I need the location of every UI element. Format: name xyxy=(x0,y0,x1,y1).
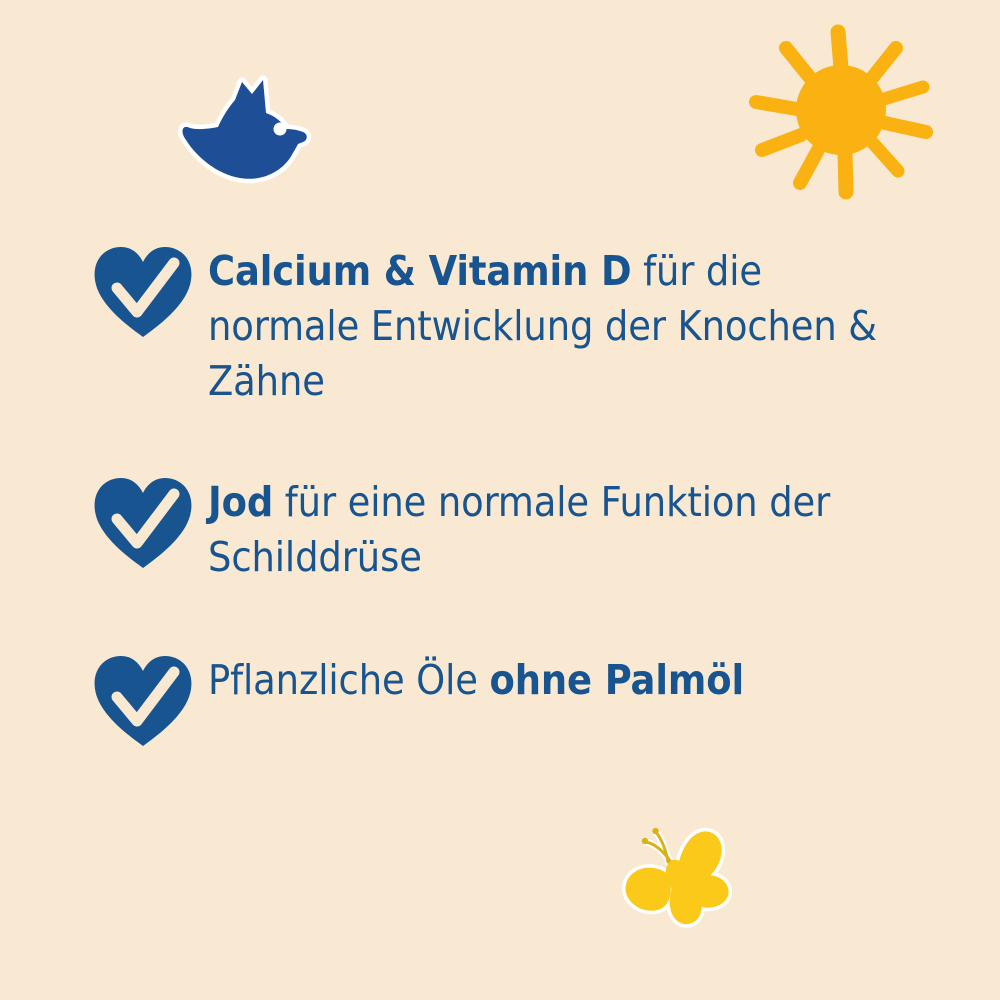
benefits-poster: Calcium & Vitamin D für die normale Entw… xyxy=(0,0,1000,1000)
benefit-bold-part: ohne Palmöl xyxy=(489,656,744,704)
benefit-text: Calcium & Vitamin D für die normale Entw… xyxy=(208,238,922,409)
heart-check-icon xyxy=(92,653,194,749)
butterfly-icon xyxy=(618,818,743,933)
benefit-text: Jod für eine normale Funktion der Schild… xyxy=(208,469,922,585)
heart-check-icon xyxy=(92,244,194,340)
benefits-list: Calcium & Vitamin D für die normale Entw… xyxy=(92,238,922,749)
benefit-regular-part: für eine normale Funktion der Schilddrüs… xyxy=(208,478,830,581)
bird-icon xyxy=(172,72,312,187)
sun-icon xyxy=(748,20,938,200)
benefit-bold-part: Jod xyxy=(208,478,273,526)
benefit-item: Pflanzliche Öle ohne Palmöl xyxy=(92,647,922,749)
heart-check-icon xyxy=(92,475,194,571)
benefit-item: Calcium & Vitamin D für die normale Entw… xyxy=(92,238,922,409)
benefit-bold-part: Calcium & Vitamin D xyxy=(208,247,632,295)
benefit-regular-part: Pflanzliche Öle xyxy=(208,656,489,704)
benefit-text: Pflanzliche Öle ohne Palmöl xyxy=(208,647,922,708)
benefit-item: Jod für eine normale Funktion der Schild… xyxy=(92,469,922,585)
